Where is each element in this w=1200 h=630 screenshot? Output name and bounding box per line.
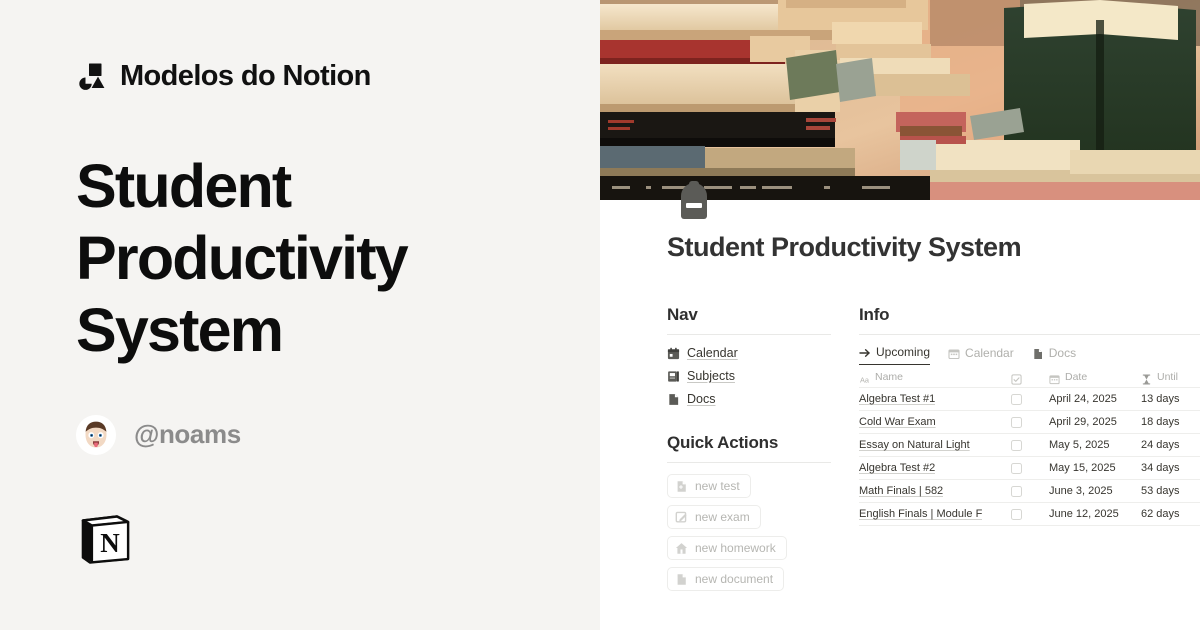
cell-done[interactable]	[1011, 417, 1049, 428]
cell-name[interactable]: Algebra Test #2	[859, 462, 1011, 474]
row-checkbox[interactable]	[1011, 486, 1022, 497]
quick-actions-heading: Quick Actions	[667, 433, 831, 453]
cell-name[interactable]: Algebra Test #1	[859, 393, 1011, 405]
table-row[interactable]: Cold War Exam April 29, 2025 18 days	[859, 411, 1200, 434]
info-column: Info Upcoming Calendar	[859, 305, 1200, 598]
new-homework-button[interactable]: new homework	[667, 536, 787, 560]
cover-image	[600, 0, 1200, 200]
quick-action-label: new exam	[695, 510, 750, 524]
row-date-text: April 29, 2025	[1049, 416, 1117, 428]
table-row[interactable]: Essay on Natural Light May 5, 2025 24 da…	[859, 434, 1200, 457]
cell-date[interactable]: May 15, 2025	[1049, 462, 1141, 474]
upcoming-table: Aa Name Dat	[859, 367, 1200, 526]
author-byline: @noams	[76, 415, 600, 455]
cell-date[interactable]: June 12, 2025	[1049, 508, 1141, 520]
cell-date[interactable]: April 29, 2025	[1049, 416, 1141, 428]
tab-upcoming[interactable]: Upcoming	[859, 345, 930, 365]
brand-header: Modelos do Notion	[76, 56, 600, 96]
row-name-text: Algebra Test #1	[859, 393, 935, 405]
row-name-text: Essay on Natural Light	[859, 439, 970, 451]
left-panel: Modelos do Notion Student Productivity S…	[0, 0, 600, 630]
content-columns: Nav Calendar Subjects	[667, 305, 1200, 598]
row-checkbox[interactable]	[1011, 509, 1022, 520]
row-name-text: English Finals | Module F	[859, 508, 982, 520]
hourglass-icon	[1141, 372, 1152, 383]
tab-calendar[interactable]: Calendar	[948, 346, 1014, 365]
column-header-label: Date	[1065, 371, 1087, 383]
column-header-done[interactable]	[1011, 372, 1049, 383]
page-title: Student Productivity System	[76, 151, 506, 367]
cell-until[interactable]: 24 days	[1141, 439, 1200, 451]
cell-done[interactable]	[1011, 486, 1049, 497]
cell-name[interactable]: Cold War Exam	[859, 416, 1011, 428]
document-icon	[675, 573, 688, 586]
column-header-label: Until	[1157, 371, 1178, 383]
nav-item-label: Subjects	[687, 369, 735, 383]
author-handle[interactable]: @noams	[134, 419, 241, 450]
avatar	[76, 415, 116, 455]
column-header-until[interactable]: Until	[1141, 371, 1200, 383]
house-icon	[675, 542, 688, 555]
column-header-label: Name	[875, 371, 903, 383]
row-until-text: 34 days	[1141, 462, 1180, 474]
template-preview-card: Modelos do Notion Student Productivity S…	[0, 0, 1200, 630]
row-date-text: June 3, 2025	[1049, 485, 1113, 497]
page-plus-icon	[675, 480, 688, 493]
document-icon	[1032, 347, 1044, 359]
document-icon	[667, 393, 680, 406]
notion-logo: N	[76, 511, 132, 567]
new-exam-button[interactable]: new exam	[667, 505, 761, 529]
row-until-text: 24 days	[1141, 439, 1180, 451]
row-until-text: 53 days	[1141, 485, 1180, 497]
book-icon	[667, 370, 680, 383]
row-checkbox[interactable]	[1011, 394, 1022, 405]
svg-text:Aa: Aa	[860, 375, 870, 383]
info-heading: Info	[859, 305, 1200, 325]
table-header-row: Aa Name Dat	[859, 367, 1200, 388]
table-row[interactable]: Algebra Test #2 May 15, 2025 34 days	[859, 457, 1200, 480]
cell-name[interactable]: Math Finals | 582	[859, 485, 1011, 497]
text-aa-icon: Aa	[859, 372, 870, 383]
cell-date[interactable]: June 3, 2025	[1049, 485, 1141, 497]
row-checkbox[interactable]	[1011, 440, 1022, 451]
new-document-button[interactable]: new document	[667, 567, 784, 591]
nav-item-subjects[interactable]: Subjects	[667, 369, 831, 383]
brand-title: Modelos do Notion	[120, 60, 371, 93]
cell-done[interactable]	[1011, 440, 1049, 451]
row-date-text: June 12, 2025	[1049, 508, 1119, 520]
row-checkbox[interactable]	[1011, 417, 1022, 428]
nav-list: Calendar Subjects Docs	[667, 346, 831, 406]
cell-date[interactable]: April 24, 2025	[1049, 393, 1141, 405]
cell-done[interactable]	[1011, 509, 1049, 520]
cell-until[interactable]: 62 days	[1141, 508, 1200, 520]
row-checkbox[interactable]	[1011, 463, 1022, 474]
cell-until[interactable]: 34 days	[1141, 462, 1200, 474]
info-divider	[859, 334, 1200, 335]
table-row[interactable]: Math Finals | 582 June 3, 2025 53 days	[859, 480, 1200, 503]
cell-name[interactable]: English Finals | Module F	[859, 508, 1011, 520]
column-header-name[interactable]: Aa Name	[859, 371, 1011, 383]
table-row[interactable]: Algebra Test #1 April 24, 2025 13 days	[859, 388, 1200, 411]
row-name-text: Cold War Exam	[859, 416, 936, 428]
row-until-text: 18 days	[1141, 416, 1180, 428]
shapes-icon	[76, 61, 106, 91]
quick-action-label: new homework	[695, 541, 776, 555]
column-header-date[interactable]: Date	[1049, 371, 1141, 383]
cell-name[interactable]: Essay on Natural Light	[859, 439, 1011, 451]
cell-until[interactable]: 13 days	[1141, 393, 1200, 405]
tab-label: Calendar	[965, 346, 1014, 360]
row-date-text: April 24, 2025	[1049, 393, 1117, 405]
nav-heading: Nav	[667, 305, 831, 325]
tab-docs[interactable]: Docs	[1032, 346, 1076, 365]
calendar-grid-icon	[948, 347, 960, 359]
svg-text:N: N	[100, 528, 120, 558]
nav-item-label: Docs	[687, 392, 715, 406]
calendar-grid-icon	[1049, 372, 1060, 383]
nav-column: Nav Calendar Subjects	[667, 305, 831, 598]
cell-until[interactable]: 53 days	[1141, 485, 1200, 497]
row-date-text: May 15, 2025	[1049, 462, 1116, 474]
document-title: Student Productivity System	[667, 232, 1021, 263]
table-row[interactable]: English Finals | Module F June 12, 2025 …	[859, 503, 1200, 526]
nav-divider	[667, 334, 831, 335]
row-date-text: May 5, 2025	[1049, 439, 1110, 451]
info-tabs: Upcoming Calendar Docs	[859, 345, 1200, 365]
cell-done[interactable]	[1011, 394, 1049, 405]
calendar-icon	[667, 347, 680, 360]
row-name-text: Algebra Test #2	[859, 462, 935, 474]
row-name-text: Math Finals | 582	[859, 485, 943, 497]
new-test-button[interactable]: new test	[667, 474, 751, 498]
tab-label: Upcoming	[876, 345, 930, 359]
tab-label: Docs	[1049, 346, 1076, 360]
cell-date[interactable]: May 5, 2025	[1049, 439, 1141, 451]
quick-actions-divider	[667, 462, 831, 463]
cell-until[interactable]: 18 days	[1141, 416, 1200, 428]
quick-action-label: new test	[695, 479, 740, 493]
nav-item-docs[interactable]: Docs	[667, 392, 831, 406]
row-until-text: 13 days	[1141, 393, 1180, 405]
nav-item-calendar[interactable]: Calendar	[667, 346, 831, 360]
cell-done[interactable]	[1011, 463, 1049, 474]
arrow-right-icon	[859, 346, 871, 358]
quick-action-label: new document	[695, 572, 773, 586]
row-until-text: 62 days	[1141, 508, 1180, 520]
nav-item-label: Calendar	[687, 346, 738, 360]
backpack-icon	[668, 174, 720, 226]
pencil-square-icon	[675, 511, 688, 524]
right-panel: Student Productivity System Nav Calendar	[600, 0, 1200, 630]
quick-actions-list: new test new exam new homework	[667, 474, 831, 598]
checkbox-checked-icon	[1011, 372, 1022, 383]
